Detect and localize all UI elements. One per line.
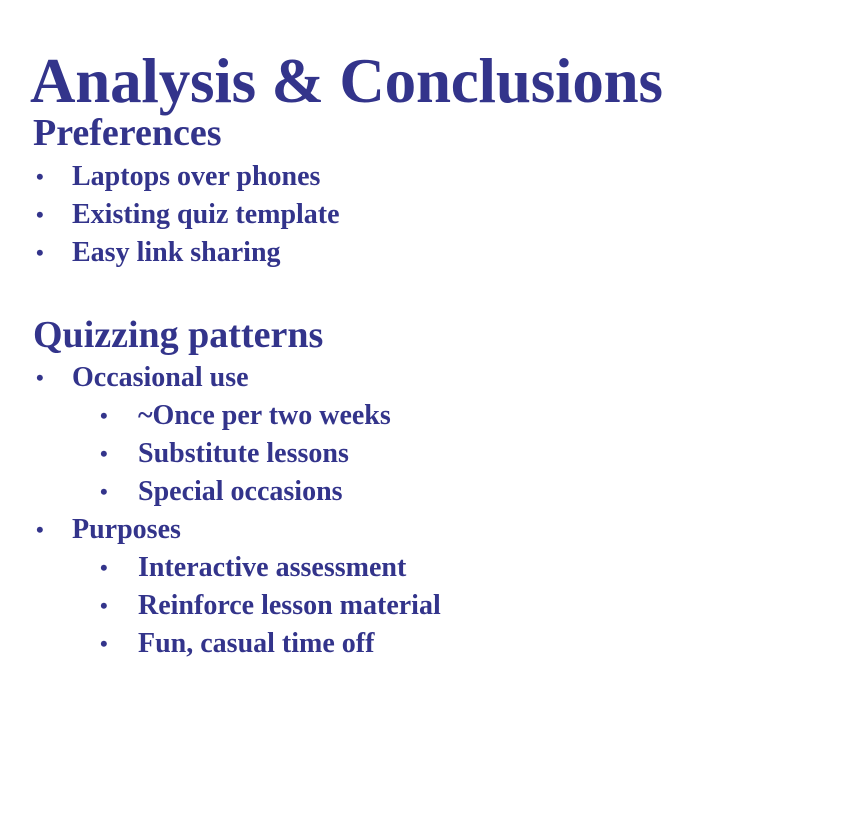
list-item-label: Easy link sharing <box>72 237 281 268</box>
list-item-label: Existing quiz template <box>72 199 340 230</box>
list-item-label: Special occasions <box>138 476 343 507</box>
bullet-dot-icon: • <box>36 196 44 234</box>
list-item: • Existing quiz template <box>0 196 857 234</box>
bullet-dot-icon: • <box>100 587 108 625</box>
list-item: • Laptops over phones <box>0 158 857 196</box>
bullet-dot-icon: • <box>100 549 108 587</box>
slide-body: Preferences • Laptops over phones • Exis… <box>0 112 857 663</box>
slide-canvas: Analysis & Conclusions Preferences • Lap… <box>0 0 857 840</box>
list-item: • Substitute lessons <box>0 435 857 473</box>
list-item: • Occasional use <box>0 359 857 397</box>
section-preferences: Preferences • Laptops over phones • Exis… <box>0 112 857 272</box>
list-item: • Special occasions <box>0 473 857 511</box>
list-item-label: Occasional use <box>72 362 249 393</box>
list-item-label: Interactive assessment <box>138 552 406 583</box>
list-item-label: Reinforce lesson material <box>138 590 441 621</box>
bullet-list: • Occasional use • ~Once per two weeks •… <box>0 359 857 663</box>
bullet-dot-icon: • <box>36 511 44 549</box>
list-item: • Easy link sharing <box>0 234 857 272</box>
list-item-label: ~Once per two weeks <box>138 400 391 431</box>
bullet-dot-icon: • <box>36 158 44 196</box>
list-item-label: Substitute lessons <box>138 438 349 469</box>
list-item-label: Laptops over phones <box>72 161 320 192</box>
list-item-label: Purposes <box>72 514 181 545</box>
list-item: • Reinforce lesson material <box>0 587 857 625</box>
list-item: • ~Once per two weeks <box>0 397 857 435</box>
bullet-dot-icon: • <box>100 625 108 663</box>
list-item: • Fun, casual time off <box>0 625 857 663</box>
section-spacer <box>0 272 857 314</box>
bullet-dot-icon: • <box>36 234 44 272</box>
bullet-dot-icon: • <box>100 397 108 435</box>
bullet-dot-icon: • <box>36 359 44 397</box>
bullet-dot-icon: • <box>100 473 108 511</box>
bullet-dot-icon: • <box>100 435 108 473</box>
section-heading: Preferences <box>0 112 857 156</box>
list-item-label: Fun, casual time off <box>138 628 374 659</box>
section-heading: Quizzing patterns <box>0 314 857 358</box>
list-item: • Interactive assessment <box>0 549 857 587</box>
section-quizzing-patterns: Quizzing patterns • Occasional use • ~On… <box>0 314 857 663</box>
page-title: Analysis & Conclusions <box>30 44 840 118</box>
list-item: • Purposes <box>0 511 857 549</box>
bullet-list: • Laptops over phones • Existing quiz te… <box>0 158 857 272</box>
